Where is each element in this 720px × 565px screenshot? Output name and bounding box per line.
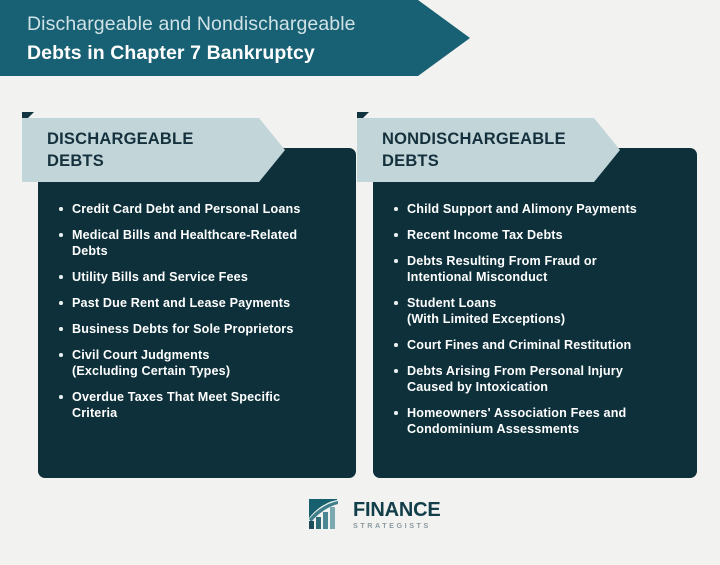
list-item: Medical Bills and Healthcare-Related Deb… bbox=[58, 227, 348, 259]
debt-list: Credit Card Debt and Personal Loans Medi… bbox=[58, 201, 348, 431]
list-item: Homeowners' Association Fees and Condomi… bbox=[393, 405, 693, 437]
column-heading-label: NONDISCHARGEABLE DEBTS bbox=[382, 128, 620, 172]
list-item: Overdue Taxes That Meet Specific Criteri… bbox=[58, 389, 348, 421]
list-item: Child Support and Alimony Payments bbox=[393, 201, 693, 217]
list-item: Business Debts for Sole Proprietors bbox=[58, 321, 348, 337]
column-heading-ribbon: NONDISCHARGEABLE DEBTS bbox=[357, 118, 620, 182]
list-item: Recent Income Tax Debts bbox=[393, 227, 693, 243]
list-item: Past Due Rent and Lease Payments bbox=[58, 295, 348, 311]
column-heading-label: DISCHARGEABLE DEBTS bbox=[47, 128, 285, 172]
logo-tagline: STRATEGISTS bbox=[353, 522, 441, 529]
finance-strategists-logo-icon bbox=[307, 499, 347, 530]
list-item: Civil Court Judgments (Excluding Certain… bbox=[58, 347, 348, 379]
list-item: Court Fines and Criminal Restitution bbox=[393, 337, 693, 353]
debt-list: Child Support and Alimony Payments Recen… bbox=[393, 201, 693, 447]
list-item: Utility Bills and Service Fees bbox=[58, 269, 348, 285]
list-item: Credit Card Debt and Personal Loans bbox=[58, 201, 348, 217]
logo-name: FINANCE bbox=[353, 500, 441, 520]
page-title-line2: Debts in Chapter 7 Bankruptcy bbox=[27, 40, 470, 66]
brand-logo: FINANCE STRATEGISTS bbox=[307, 499, 441, 530]
logo-wordmark: FINANCE STRATEGISTS bbox=[353, 500, 441, 529]
list-item: Student Loans (With Limited Exceptions) bbox=[393, 295, 693, 327]
page-title-banner: Dischargeable and Nondischargeable Debts… bbox=[0, 0, 470, 76]
list-item: Debts Resulting From Fraud or Intentiona… bbox=[393, 253, 693, 285]
page-title-line1: Dischargeable and Nondischargeable bbox=[27, 11, 470, 37]
list-item: Debts Arising From Personal Injury Cause… bbox=[393, 363, 693, 395]
column-heading-ribbon: DISCHARGEABLE DEBTS bbox=[22, 118, 285, 182]
